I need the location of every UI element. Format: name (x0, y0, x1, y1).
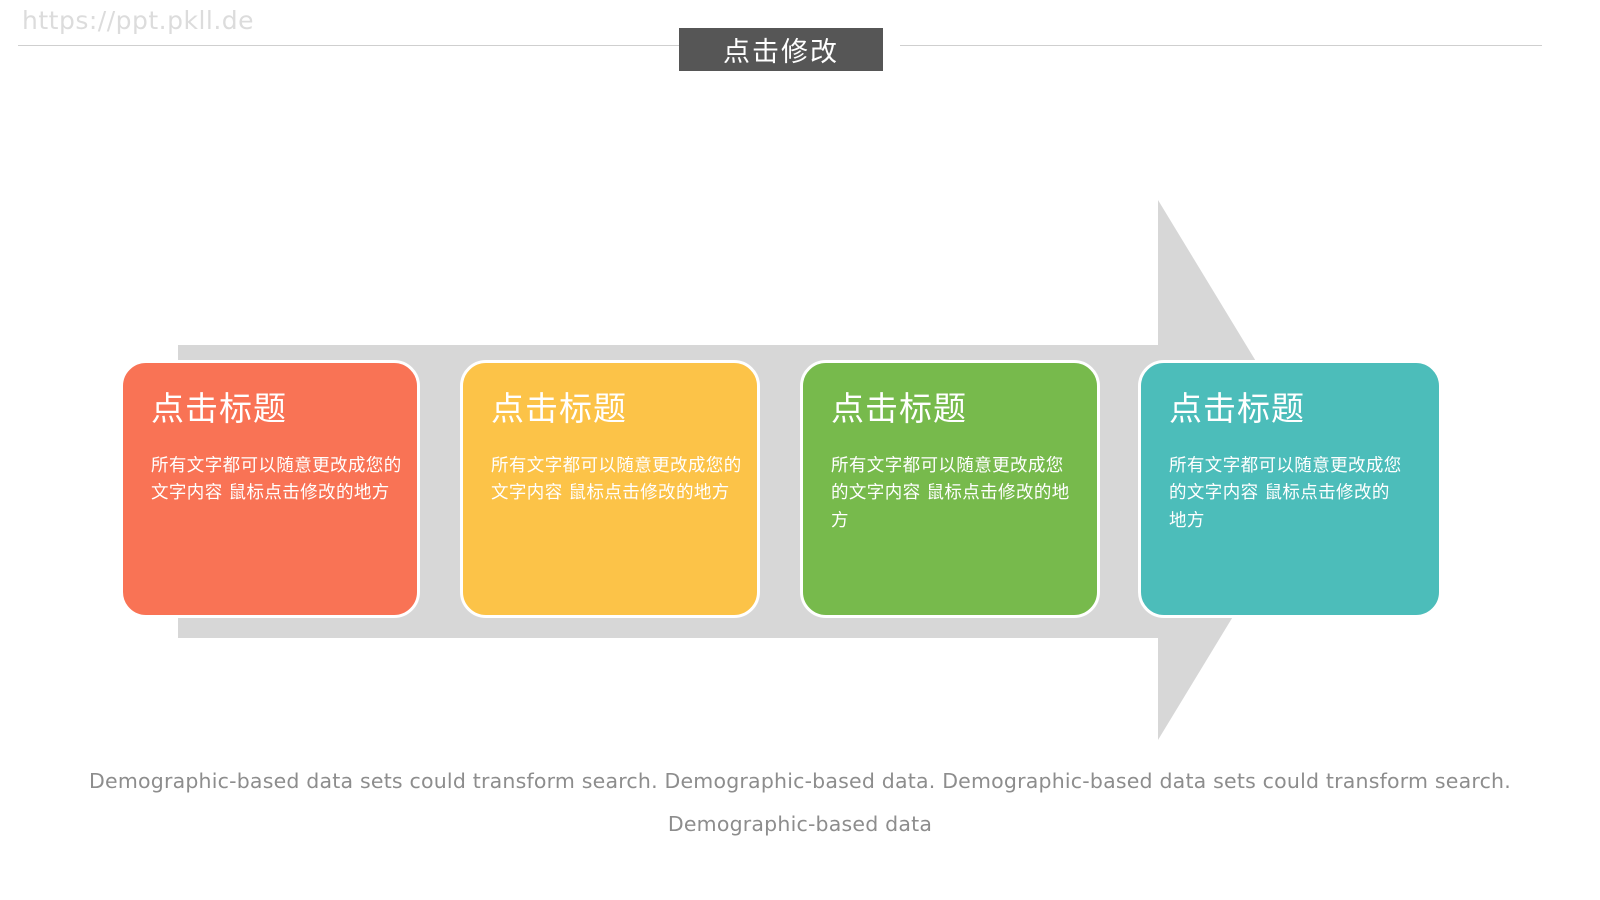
card-3-body: 所有文字都可以随意更改成您的文字内容 鼠标点击修改的地方 (831, 453, 1071, 534)
card-1-title: 点击标题 (151, 391, 417, 427)
card-3[interactable]: 点击标题 所有文字都可以随意更改成您的文字内容 鼠标点击修改的地方 (800, 360, 1100, 618)
card-4-title: 点击标题 (1169, 391, 1439, 427)
card-4-body: 所有文字都可以随意更改成您的文字内容 鼠标点击修改的地方 (1169, 453, 1405, 534)
card-4[interactable]: 点击标题 所有文字都可以随意更改成您的文字内容 鼠标点击修改的地方 (1138, 360, 1442, 618)
footer-caption: Demographic-based data sets could transf… (0, 760, 1600, 846)
card-1-body: 所有文字都可以随意更改成您的文字内容 鼠标点击修改的地方 (151, 453, 403, 507)
card-2[interactable]: 点击标题 所有文字都可以随意更改成您的文字内容 鼠标点击修改的地方 (460, 360, 760, 618)
card-3-title: 点击标题 (831, 391, 1097, 427)
slide-canvas: https://ppt.pkll.de 点击修改 点击标题 所有文字都可以随意更… (0, 0, 1600, 900)
footer-caption-line2: Demographic-based data (0, 803, 1600, 846)
card-1[interactable]: 点击标题 所有文字都可以随意更改成您的文字内容 鼠标点击修改的地方 (120, 360, 420, 618)
footer-caption-line1: Demographic-based data sets could transf… (89, 769, 1511, 793)
card-2-body: 所有文字都可以随意更改成您的文字内容 鼠标点击修改的地方 (491, 453, 743, 507)
card-2-title: 点击标题 (491, 391, 757, 427)
